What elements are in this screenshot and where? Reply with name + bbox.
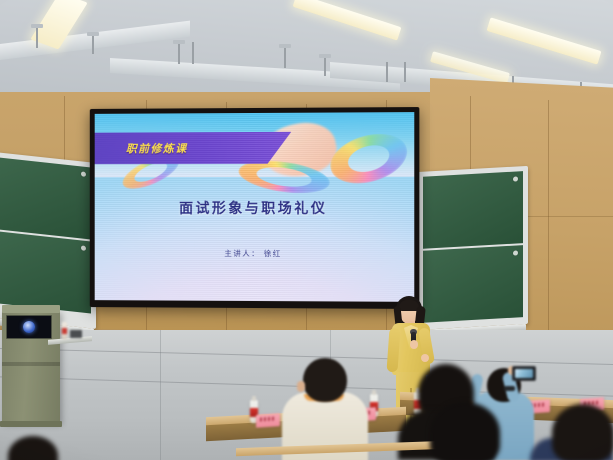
smartphone-icon[interactable] (512, 366, 536, 381)
slide-title: 面试形象与职场礼仪 (95, 197, 415, 217)
blackboard-right-upper-panel (423, 171, 523, 249)
ceiling-hanger (324, 56, 326, 76)
wall-panel-seam (548, 100, 549, 350)
blackboard-left (0, 151, 96, 329)
magnet-icon (81, 171, 86, 177)
magnet-icon (513, 250, 518, 255)
ceiling-hanger (386, 62, 388, 82)
floor-tile-line (160, 330, 161, 460)
presenter-hand (421, 354, 429, 362)
attendee-ear (297, 381, 305, 392)
slide-banner-text: 职前修炼课 (126, 140, 188, 156)
attendee-head (552, 404, 613, 460)
slide-banner: 职前修炼课 (95, 132, 292, 165)
lectern-panel-seam (2, 362, 60, 366)
presenter-hand (410, 340, 418, 349)
classroom-photo-scene: 职前修炼课 面试形象与职场礼仪 主讲人： 徐红 (0, 0, 613, 460)
ceiling-hanger (192, 42, 194, 64)
ceiling-hanger-cap (279, 44, 291, 48)
ceiling-hanger-cap (319, 54, 331, 58)
ceiling-hanger-cap (87, 32, 99, 36)
wristwatch-icon (504, 386, 515, 391)
floor-tile-line (0, 348, 613, 365)
school-emblem-icon (23, 321, 35, 333)
ceiling-hanger (404, 62, 406, 82)
ceiling-hanger (284, 46, 286, 68)
magnet-icon (81, 245, 86, 251)
lectern-monitor[interactable] (6, 315, 52, 339)
desk-name-card[interactable] (256, 413, 280, 428)
attendee-head (303, 358, 347, 402)
ceiling-hanger (178, 42, 180, 64)
ceiling-hanger-cap (173, 40, 185, 44)
ceiling-hanger (36, 26, 38, 48)
blackboard-left-lower-panel (0, 231, 91, 314)
presentation-screen[interactable]: 职前修炼课 面试形象与职场礼仪 主讲人： 徐红 (90, 107, 420, 309)
lectern-base (0, 421, 62, 427)
lectern-top-surface (2, 305, 60, 313)
magnet-icon (513, 176, 518, 181)
ceiling-hanger (92, 34, 94, 54)
blackboard-left-upper-panel (0, 157, 91, 240)
shelf-equipment[interactable] (70, 330, 82, 338)
slide-subtitle: 主讲人： 徐红 (95, 248, 415, 260)
water-bottle[interactable] (62, 322, 67, 339)
blackboard-right-lower-panel (423, 245, 523, 323)
attendee-head (430, 402, 500, 460)
lectern[interactable] (2, 310, 60, 422)
presentation-slide: 职前修炼课 面试形象与职场礼仪 主讲人： 徐红 (95, 112, 415, 302)
ceiling-hanger-cap (31, 24, 43, 28)
